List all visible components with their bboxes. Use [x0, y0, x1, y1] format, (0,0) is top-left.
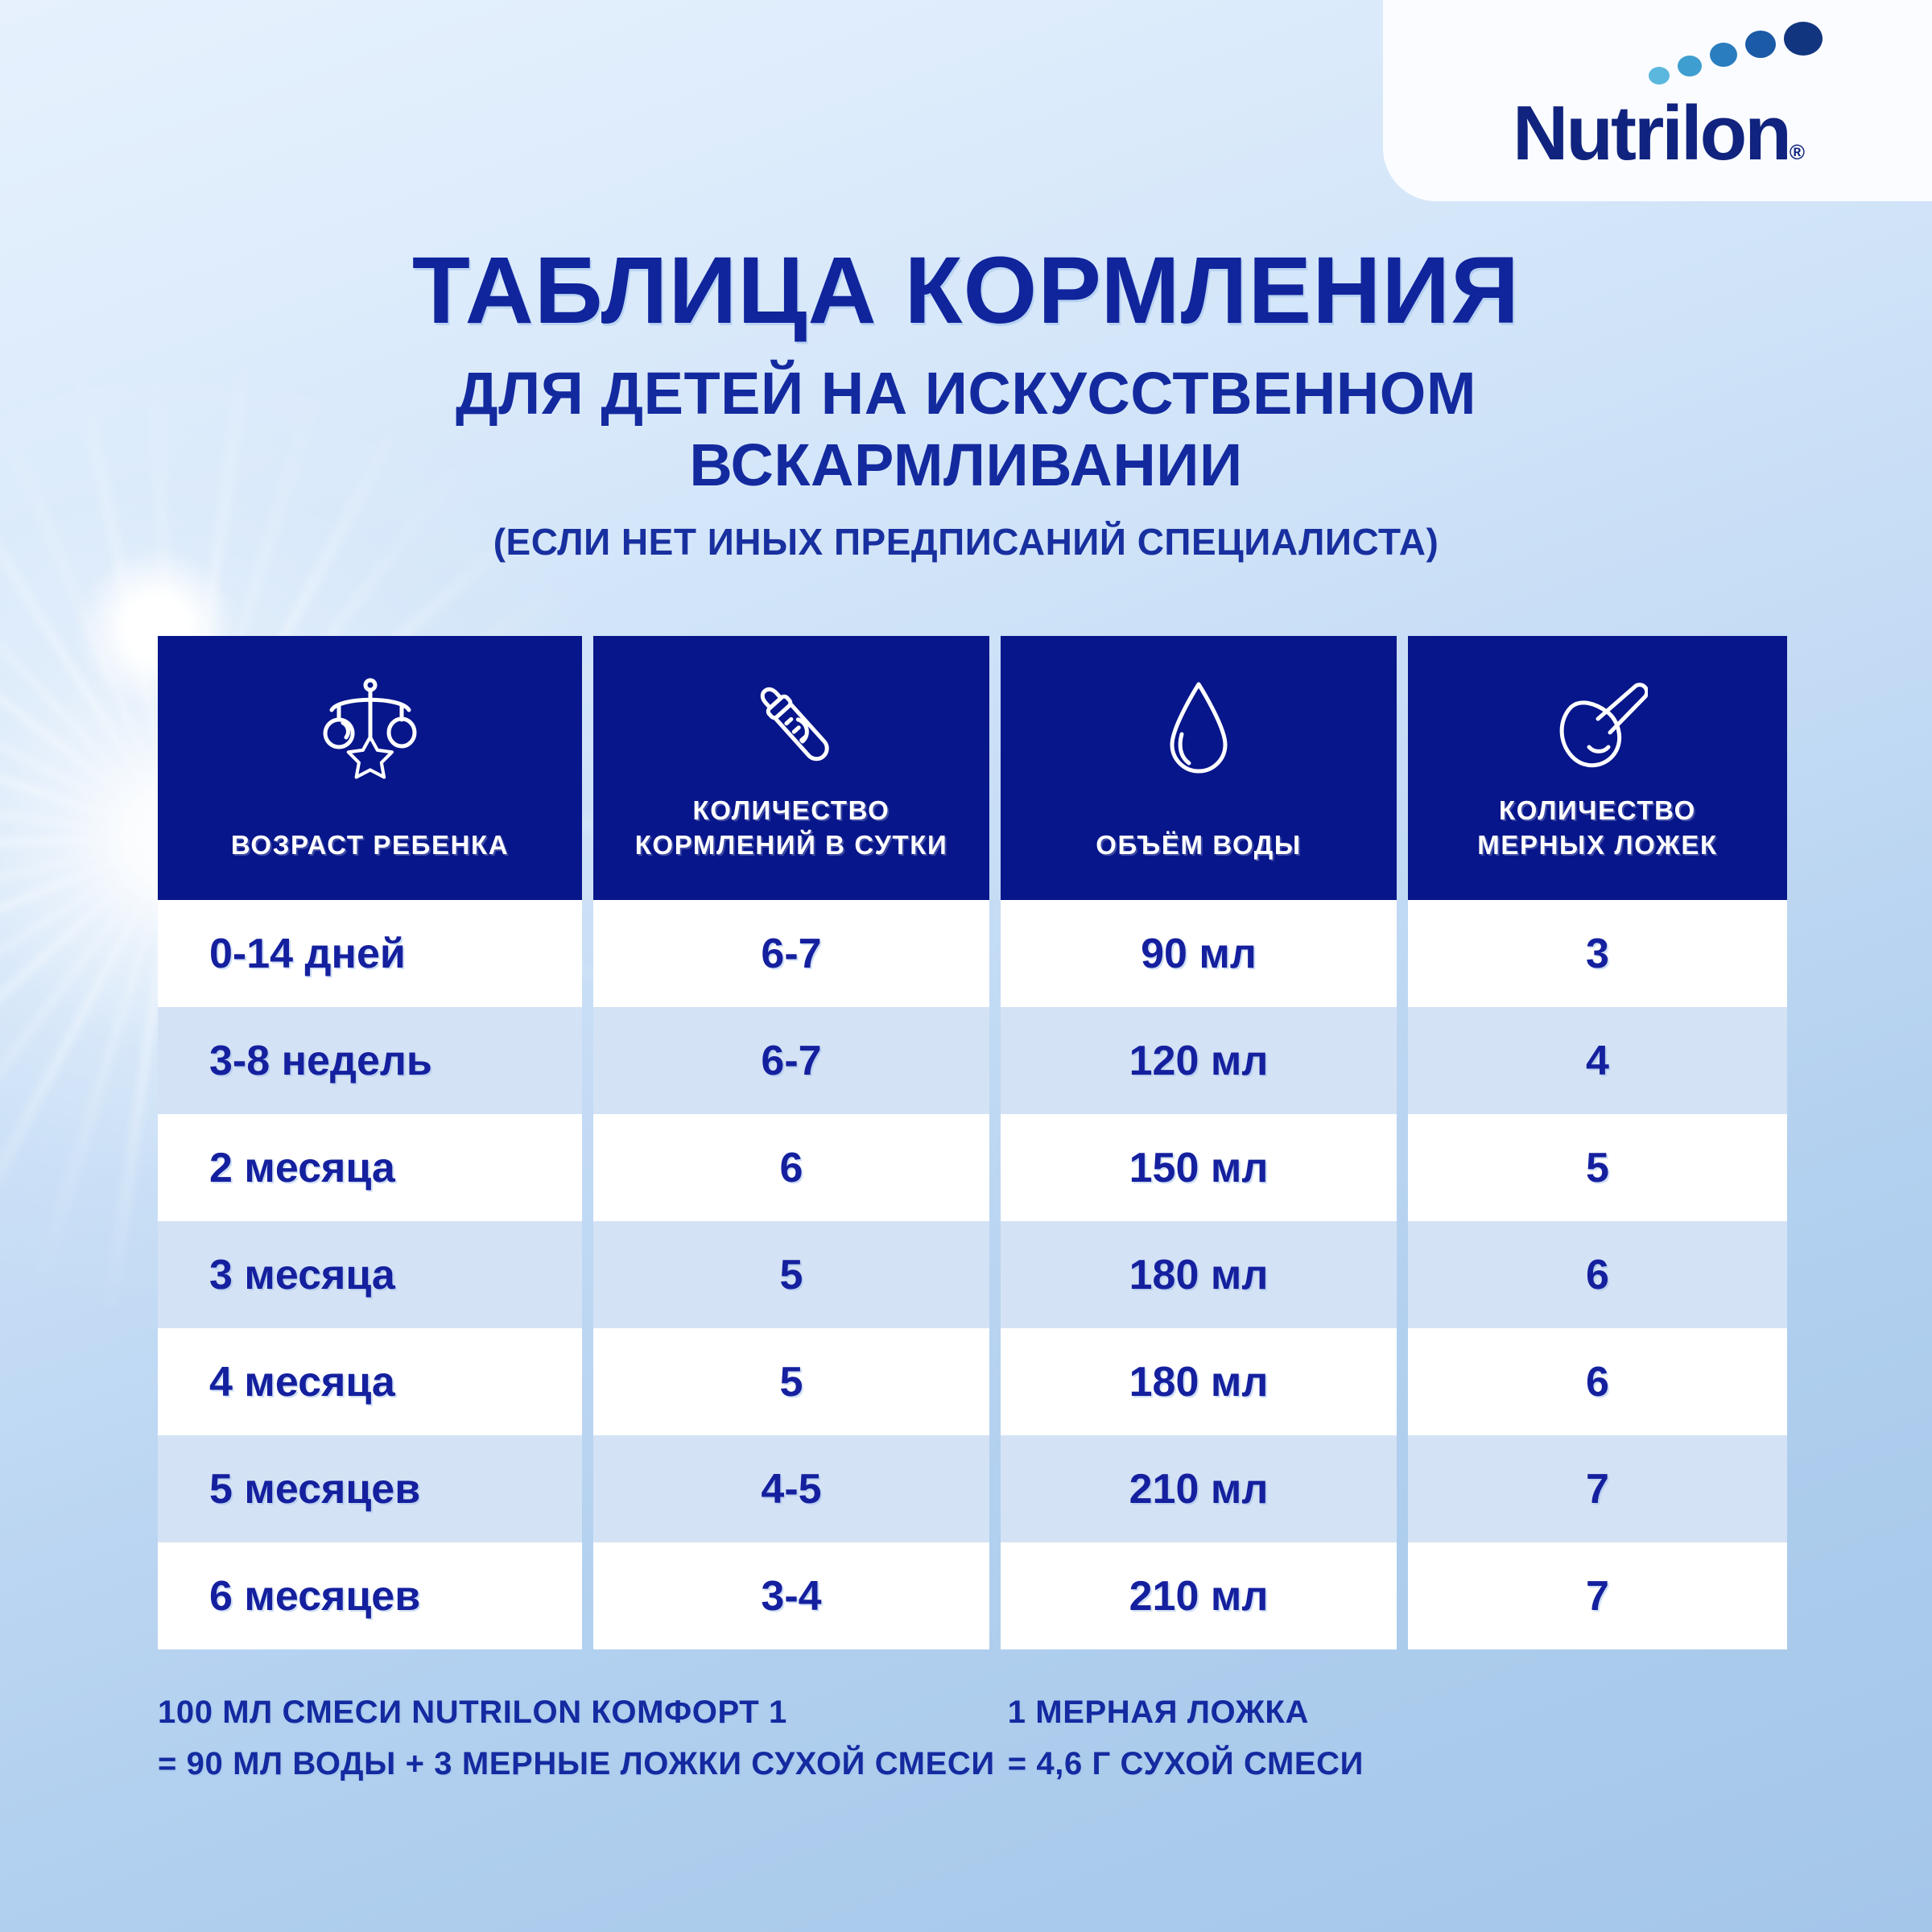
page-subtitle-line2: ВСКАРМЛИВАНИИ	[0, 432, 1932, 499]
table-header-water: ОБЪЁМ ВОДЫ	[1001, 636, 1397, 900]
cell-age: 3 месяца	[158, 1221, 582, 1328]
footer-note-mix: 100 МЛ СМЕСИ NUTRILON КОМФОРТ 1 = 90 МЛ …	[158, 1686, 995, 1790]
brand-logo-card: Nutrilon®	[1383, 0, 1932, 201]
crib-mobile-icon	[322, 675, 419, 781]
cell-age: 6 месяцев	[158, 1542, 582, 1649]
cell-scoops: 3	[1408, 900, 1787, 1007]
registered-mark: ®	[1790, 140, 1805, 164]
page-heading-block: ТАБЛИЦА КОРМЛЕНИЯ ДЛЯ ДЕТЕЙ НА ИСКУССТВЕ…	[0, 242, 1932, 563]
footer-notes: 100 МЛ СМЕСИ NUTRILON КОМФОРТ 1 = 90 МЛ …	[158, 1686, 1776, 1790]
table-header-feedings: КОЛИЧЕСТВОКОРМЛЕНИЙ В СУТКИ	[593, 636, 989, 900]
baby-bottle-icon	[739, 675, 844, 781]
cell-feedings: 3-4	[593, 1542, 989, 1649]
table-header-feedings-label: КОЛИЧЕСТВОКОРМЛЕНИЙ В СУТКИ	[635, 793, 948, 863]
table-header-water-label: ОБЪЁМ ВОДЫ	[1096, 828, 1302, 863]
cell-scoops: 7	[1408, 1542, 1787, 1649]
water-drop-icon	[1162, 675, 1235, 781]
cell-water: 210 мл	[1001, 1435, 1397, 1542]
cell-water: 90 мл	[1001, 900, 1397, 1007]
cell-scoops: 6	[1408, 1221, 1787, 1328]
cell-feedings: 6	[593, 1114, 989, 1221]
brand-logo-wordmark: Nutrilon®	[1513, 95, 1805, 172]
footer-note-mix-line2: = 90 МЛ ВОДЫ + 3 МЕРНЫЕ ЛОЖКИ СУХОЙ СМЕС…	[158, 1738, 995, 1790]
cell-age: 2 месяца	[158, 1114, 582, 1221]
table-row: 3 месяца 5 180 мл 6	[158, 1221, 1776, 1328]
cell-age: 0-14 дней	[158, 900, 582, 1007]
table-row: 2 месяца 6 150 мл 5	[158, 1114, 1776, 1221]
page-title: ТАБЛИЦА КОРМЛЕНИЯ	[0, 242, 1932, 341]
cell-water: 150 мл	[1001, 1114, 1397, 1221]
cell-water: 120 мл	[1001, 1007, 1397, 1114]
page-subtitle-note: (ЕСЛИ НЕТ ИНЫХ ПРЕДПИСАНИЙ СПЕЦИАЛИСТА)	[0, 520, 1932, 563]
cell-age: 3-8 недель	[158, 1007, 582, 1114]
cell-water: 180 мл	[1001, 1328, 1397, 1435]
table-row: 0-14 дней 6-7 90 мл 3	[158, 900, 1776, 1007]
table-header-row: ВОЗРАСТ РЕБЕНКА КОЛИЧЕСТВОКОРМЛЕНИЙ В	[158, 636, 1776, 900]
table-header-age: ВОЗРАСТ РЕБЕНКА	[158, 636, 582, 900]
footer-note-scoop-line2: = 4,6 Г СУХОЙ СМЕСИ	[1008, 1738, 1364, 1790]
footer-note-mix-line1: 100 МЛ СМЕСИ NUTRILON КОМФОРТ 1	[158, 1686, 995, 1738]
cell-feedings: 6-7	[593, 1007, 989, 1114]
cell-feedings: 5	[593, 1221, 989, 1328]
logo-dots-arc	[1648, 21, 1833, 85]
table-row: 3-8 недель 6-7 120 мл 4	[158, 1007, 1776, 1114]
cell-water: 180 мл	[1001, 1221, 1397, 1328]
table-header-scoops-label: КОЛИЧЕСТВОМЕРНЫХ ЛОЖЕК	[1477, 793, 1717, 863]
cell-feedings: 5	[593, 1328, 989, 1435]
cell-feedings: 4-5	[593, 1435, 989, 1542]
measuring-scoop-icon	[1547, 675, 1648, 781]
cell-scoops: 4	[1408, 1007, 1787, 1114]
table-header-age-label: ВОЗРАСТ РЕБЕНКА	[231, 828, 509, 863]
table-row: 6 месяцев 3-4 210 мл 7	[158, 1542, 1776, 1649]
cell-feedings: 6-7	[593, 900, 989, 1007]
cell-scoops: 7	[1408, 1435, 1787, 1542]
feeding-table: ВОЗРАСТ РЕБЕНКА КОЛИЧЕСТВОКОРМЛЕНИЙ В	[158, 636, 1776, 1649]
cell-age: 5 месяцев	[158, 1435, 582, 1542]
cell-age: 4 месяца	[158, 1328, 582, 1435]
cell-scoops: 5	[1408, 1114, 1787, 1221]
footer-note-scoop: 1 МЕРНАЯ ЛОЖКА = 4,6 Г СУХОЙ СМЕСИ	[1008, 1686, 1364, 1790]
footer-note-scoop-line1: 1 МЕРНАЯ ЛОЖКА	[1008, 1686, 1364, 1738]
table-row: 4 месяца 5 180 мл 6	[158, 1328, 1776, 1435]
page-subtitle-line1: ДЛЯ ДЕТЕЙ НА ИСКУССТВЕННОМ	[0, 361, 1932, 427]
cell-scoops: 6	[1408, 1328, 1787, 1435]
table-row: 5 месяцев 4-5 210 мл 7	[158, 1435, 1776, 1542]
cell-water: 210 мл	[1001, 1542, 1397, 1649]
brand-logo-text: Nutrilon	[1513, 90, 1790, 176]
table-header-scoops: КОЛИЧЕСТВОМЕРНЫХ ЛОЖЕК	[1408, 636, 1787, 900]
